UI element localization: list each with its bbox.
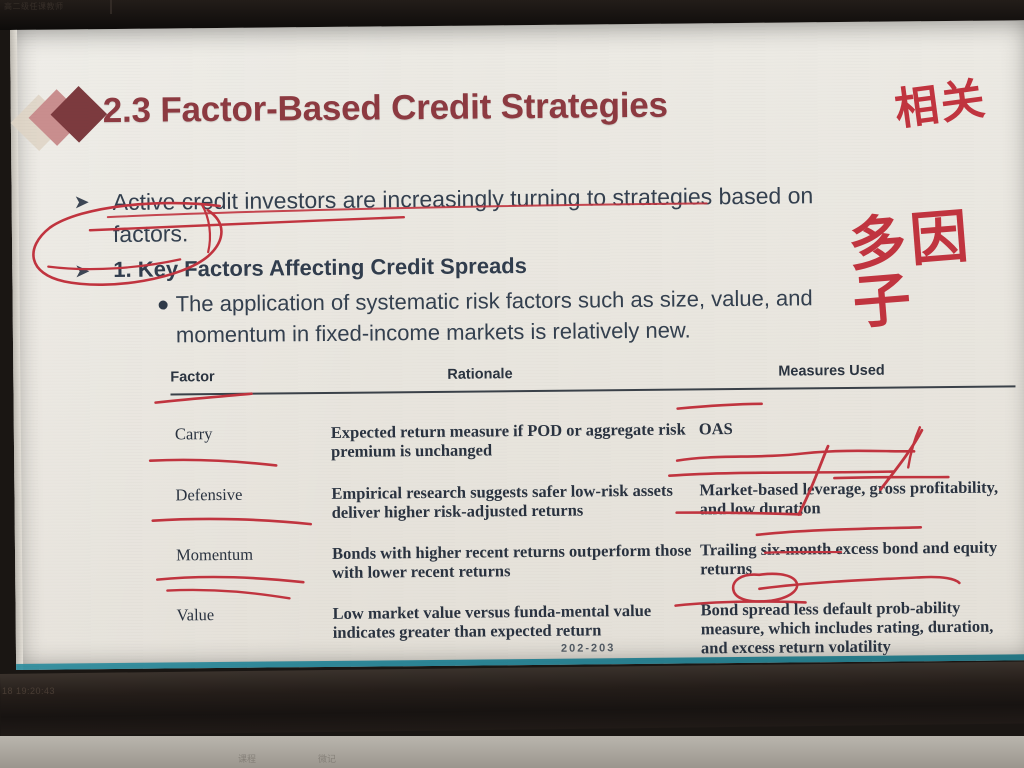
desk-surface [0,736,1024,768]
section-heading: 1. Key Factors Affecting Credit Spreads [113,253,527,283]
column-header-measures: Measures Used [778,363,885,380]
cell-rationale: Expected return measure if POD or aggreg… [331,419,691,461]
photo-of-slide: 高二级任课教师 2.3 Factor-Based Credit Strategi… [0,0,1024,768]
foot-label-right: 微记 [318,752,336,765]
bezel-bottom-label: 18 19:20:43 [2,686,55,696]
table-row: Carry Expected return measure if POD or … [171,416,1017,485]
table-header-rule [170,385,1015,395]
presentation-slide: 2.3 Factor-Based Credit Strategies ➤ Act… [10,20,1024,670]
bullet-1: Active credit investors are increasingly… [113,178,1024,250]
factor-table: Factor Rationale Measures Used Carry Exp… [170,361,1018,685]
table-header-row: Factor Rationale Measures Used [170,361,1015,392]
column-header-rationale: Rationale [447,366,512,383]
cell-measures: Trailing six-month excess bond and equit… [700,537,1020,578]
monitor-bezel-bottom [0,661,1024,736]
bullet-1-line-1: Active credit investors are increasingly… [113,182,814,215]
slide-page-number: 202-203 [561,642,615,655]
arrow-bullet-icon: ➤ [74,193,90,212]
slide-title-text: 2.3 Factor-Based Credit Strategies [103,86,668,131]
table-row: Defensive Empirical research suggests sa… [171,477,1017,545]
diamond-logo-icon [19,89,110,150]
cell-measures: OAS [699,416,1019,438]
cell-rationale: Low market value versus funda-mental val… [333,600,693,642]
bezel-top-label: 高二级任课教师 [4,1,64,12]
cell-factor: Defensive [175,484,335,506]
cell-measures: Market-based leverage, gross profitabili… [699,477,1019,518]
cell-measures: Bond spread less default prob-ability me… [701,597,1022,657]
round-bullet-icon [159,300,168,309]
cell-factor: Momentum [176,544,336,566]
bullet-1-line-2: factors. [113,210,1024,251]
bullet-2-line-2: momentum in fixed-income markets is rela… [176,318,691,348]
bezel-notch [110,0,112,14]
column-header-factor: Factor [170,369,214,385]
foot-label-left: 课程 [238,752,256,765]
table-row: Momentum Bonds with higher recent return… [172,537,1018,605]
bullet-2: The application of systematic risk facto… [175,280,1024,351]
slide-content: 2.3 Factor-Based Credit Strategies ➤ Act… [10,20,1024,670]
cell-factor: Value [177,604,337,626]
cell-rationale: Empirical research suggests safer low-ri… [331,480,691,522]
slide-title: 2.3 Factor-Based Credit Strategies [103,86,668,131]
cell-factor: Carry [175,423,335,445]
arrow-bullet-icon-2: ➤ [74,262,90,281]
cell-rationale: Bonds with higher recent returns outperf… [332,540,692,582]
bullet-2-line-1: The application of systematic risk facto… [176,285,813,316]
